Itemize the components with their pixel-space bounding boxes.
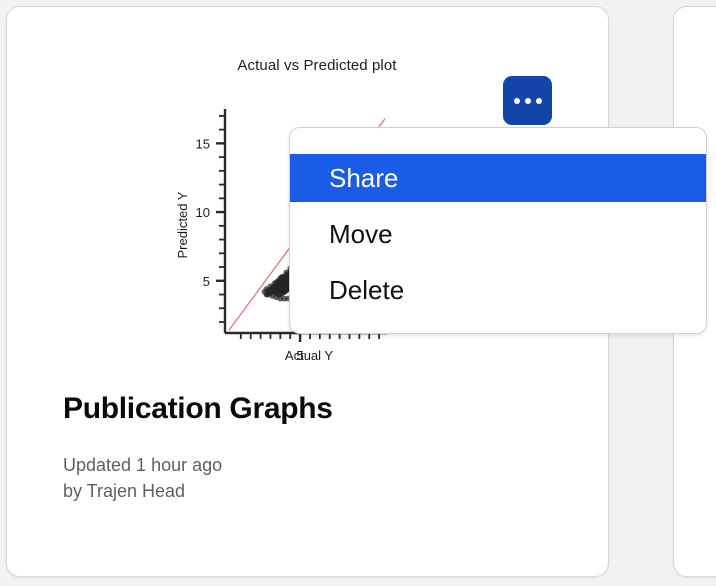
ellipsis-dot-3 — [536, 98, 542, 104]
svg-text:10: 10 — [196, 205, 210, 220]
y-axis-label: Predicted Y — [175, 191, 190, 258]
menu-item-share[interactable]: Share — [290, 154, 706, 202]
menu-item-move-label: Move — [329, 219, 393, 250]
menu-item-move[interactable]: Move — [290, 210, 706, 258]
menu-item-delete[interactable]: Delete — [290, 266, 706, 314]
x-axis-ticks — [241, 333, 379, 342]
more-options-button[interactable] — [503, 76, 552, 125]
y-axis-ticks — [216, 116, 225, 322]
ellipsis-dot-1 — [514, 98, 520, 104]
card-author-text: by Trajen Head — [63, 479, 222, 505]
card-metadata: Updated 1 hour ago by Trajen Head — [63, 453, 222, 504]
ellipsis-dot-2 — [525, 98, 531, 104]
app-root: Actual vs Predicted plot 51015 5 Predict… — [0, 0, 716, 586]
card-title: Publication Graphs — [63, 392, 333, 426]
card-updated-text: Updated 1 hour ago — [63, 453, 222, 479]
menu-item-share-label: Share — [329, 163, 398, 194]
svg-text:15: 15 — [196, 136, 210, 151]
menu-item-delete-label: Delete — [329, 275, 404, 306]
context-menu[interactable]: Share Move Delete — [289, 127, 707, 334]
svg-text:5: 5 — [203, 274, 210, 289]
y-tick-labels: 51015 — [196, 136, 210, 288]
x-axis-label: Actual Y — [285, 348, 334, 363]
chart-title: Actual vs Predicted plot — [117, 57, 517, 74]
